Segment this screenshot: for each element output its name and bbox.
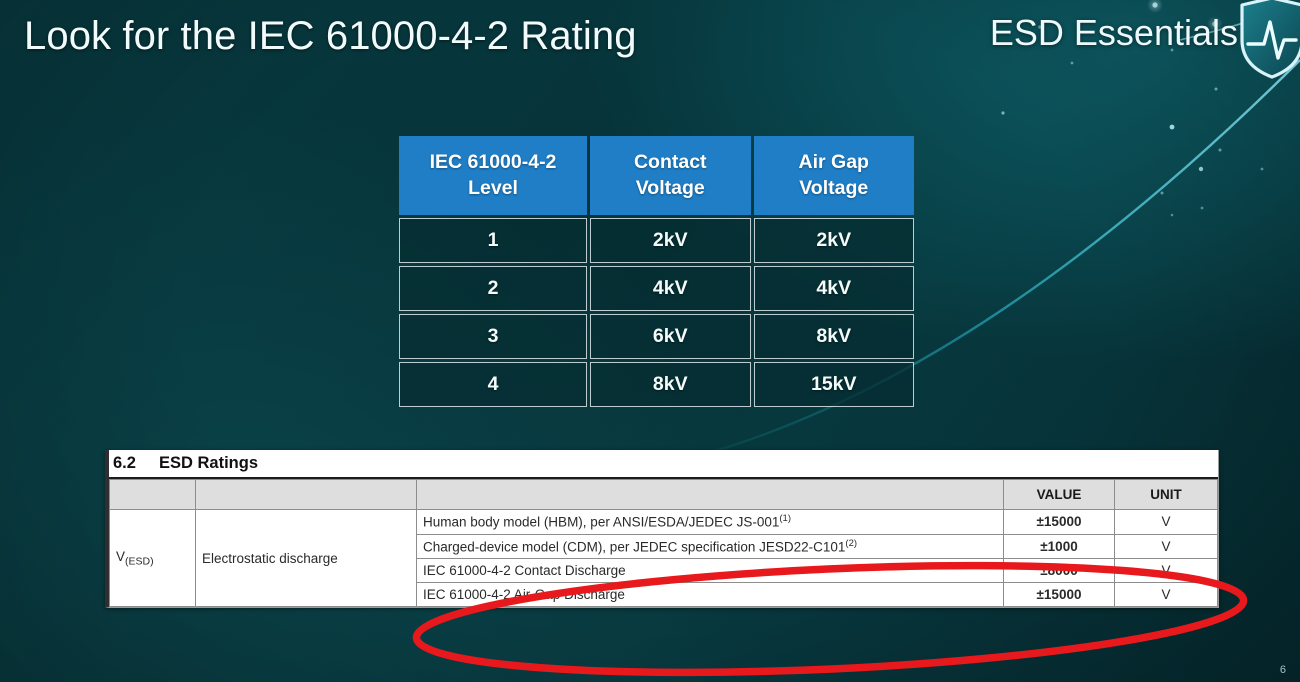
datasheet-table: VALUE UNIT V(ESD) Electrostatic discharg… (109, 479, 1218, 607)
levels-header-cell-1: Contact Voltage (590, 136, 751, 215)
levels-header-line-1a: Contact (634, 151, 707, 173)
datasheet-value-cell: ±15000 (1004, 583, 1115, 607)
levels-cell-contact: 4kV (590, 266, 751, 311)
datasheet-section-number: 6.2 (113, 454, 159, 473)
description-text: Human body model (HBM), per ANSI/ESDA/JE… (423, 515, 779, 530)
datasheet-value-cell: ±15000 (1004, 510, 1115, 535)
datasheet-unit-cell: V (1115, 583, 1218, 607)
datasheet-value-cell: ±8000 (1004, 559, 1115, 583)
table-row: 1 2kV 2kV (399, 218, 914, 263)
levels-cell-airgap: 2kV (754, 218, 915, 263)
datasheet-unit-cell: V (1115, 559, 1218, 583)
datasheet-description-cell: IEC 61000-4-2 Contact Discharge (417, 559, 1004, 583)
datasheet-parameter-cell: Electrostatic discharge (196, 510, 417, 607)
footnote-marker: (1) (779, 513, 791, 524)
levels-cell-contact: 2kV (590, 218, 751, 263)
symbol-text: V (116, 549, 125, 564)
levels-cell-airgap: 8kV (754, 314, 915, 359)
datasheet-section-title: ESD Ratings (159, 454, 258, 473)
footnote-marker: (2) (845, 538, 857, 549)
table-row: 4 8kV 15kV (399, 362, 914, 407)
datasheet-header-row: VALUE UNIT (110, 480, 1218, 510)
table-row: 2 4kV 4kV (399, 266, 914, 311)
datasheet-esd-ratings: 6.2 ESD Ratings VALUE UNIT V(ESD) Elect (105, 450, 1219, 608)
levels-header-line-1b: Voltage (636, 177, 705, 199)
description-text: Charged-device model (CDM), per JEDEC sp… (423, 539, 845, 554)
datasheet-unit-cell: V (1115, 534, 1218, 559)
levels-cell-airgap: 15kV (754, 362, 915, 407)
datasheet-description-cell: Human body model (HBM), per ANSI/ESDA/JE… (417, 510, 1004, 535)
page-number: 6 (1280, 664, 1286, 676)
datasheet-section-heading: 6.2 ESD Ratings (109, 450, 1218, 479)
levels-cell-level: 3 (399, 314, 587, 359)
levels-header-line-2a: Air Gap (799, 151, 869, 173)
shield-pulse-icon (1236, 0, 1300, 80)
levels-header-line-2b: Voltage (799, 177, 868, 199)
datasheet-description-cell: Charged-device model (CDM), per JEDEC sp… (417, 534, 1004, 559)
levels-header-cell-2: Air Gap Voltage (754, 136, 915, 215)
datasheet-unit-cell: V (1115, 510, 1218, 535)
levels-cell-airgap: 4kV (754, 266, 915, 311)
slide-background: Look for the IEC 61000-4-2 Rating ESD Es… (0, 0, 1300, 682)
table-row: V(ESD) Electrostatic discharge Human bod… (110, 510, 1218, 535)
datasheet-value-cell: ±1000 (1004, 534, 1115, 559)
levels-cell-contact: 8kV (590, 362, 751, 407)
datasheet-header-symbol (110, 480, 196, 510)
levels-cell-level: 4 (399, 362, 587, 407)
levels-cell-contact: 6kV (590, 314, 751, 359)
datasheet-header-value: VALUE (1004, 480, 1115, 510)
iec-levels-table: IEC 61000-4-2 Level Contact Voltage Air … (396, 133, 917, 410)
brand-label: ESD Essentials (990, 12, 1238, 54)
symbol-subscript: (ESD) (125, 555, 154, 567)
datasheet-header-parameter (196, 480, 417, 510)
levels-cell-level: 2 (399, 266, 587, 311)
datasheet-header-unit: UNIT (1115, 480, 1218, 510)
levels-cell-level: 1 (399, 218, 587, 263)
levels-header-line-0b: Level (468, 177, 518, 199)
table-row: 3 6kV 8kV (399, 314, 914, 359)
datasheet-symbol-cell: V(ESD) (110, 510, 196, 607)
levels-header-line-0a: IEC 61000-4-2 (430, 151, 557, 173)
page-title: Look for the IEC 61000-4-2 Rating (24, 14, 637, 59)
datasheet-header-description (417, 480, 1004, 510)
levels-header-cell-0: IEC 61000-4-2 Level (399, 136, 587, 215)
levels-header-row: IEC 61000-4-2 Level Contact Voltage Air … (399, 136, 914, 215)
datasheet-description-cell: IEC 61000-4-2 Air-Gap Discharge (417, 583, 1004, 607)
